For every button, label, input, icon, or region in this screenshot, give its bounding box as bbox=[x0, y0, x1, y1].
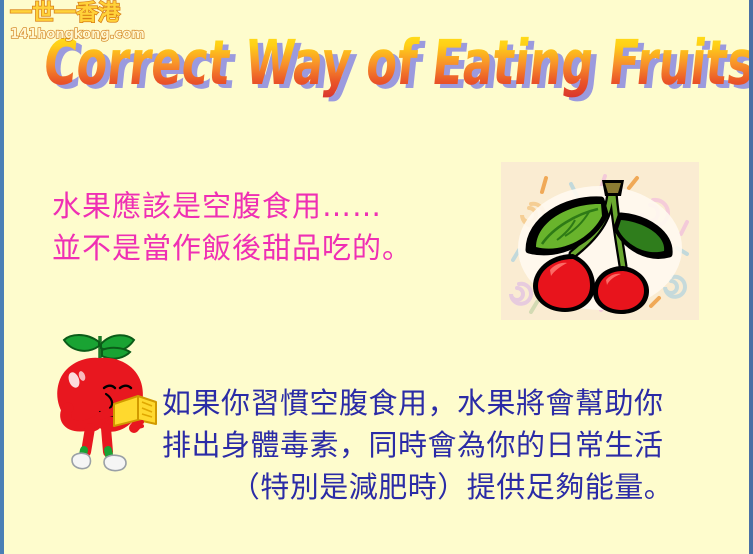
fruit-benefits-statement: 如果你習慣空腹食用，水果將會幫助你 排出身體毒素，同時會為你的日常生活 （特別是… bbox=[162, 382, 742, 508]
watermark-logo: 一世一香港 141hongkong.com bbox=[10, 2, 140, 46]
title-main-text: Correct Way of Eating Fruits bbox=[40, 26, 753, 99]
cherries-image-panel bbox=[501, 162, 699, 320]
blue-line-2: 排出身體毒素，同時會為你的日常生活 bbox=[162, 424, 742, 466]
apple-character-image bbox=[42, 328, 160, 478]
blue-line-3: （特別是減肥時）提供足夠能量。 bbox=[162, 466, 742, 508]
watermark-url-text: 141hongkong.com bbox=[10, 27, 140, 42]
apple-reading-book-icon bbox=[42, 328, 160, 478]
watermark-chinese-text: 一世一香港 bbox=[10, 2, 140, 26]
purple-line-2: 並不是當作飯後甜品吃的。 bbox=[52, 227, 502, 269]
cherries-clipart-icon bbox=[501, 162, 699, 320]
purple-line-1: 水果應該是空腹食用…… bbox=[52, 185, 502, 227]
blue-line-1: 如果你習慣空腹食用，水果將會幫助你 bbox=[162, 382, 742, 424]
slide-canvas: 一世一香港 141hongkong.com Correct Way of Eat… bbox=[0, 0, 753, 554]
fruit-timing-statement: 水果應該是空腹食用…… 並不是當作飯後甜品吃的。 bbox=[52, 185, 502, 269]
